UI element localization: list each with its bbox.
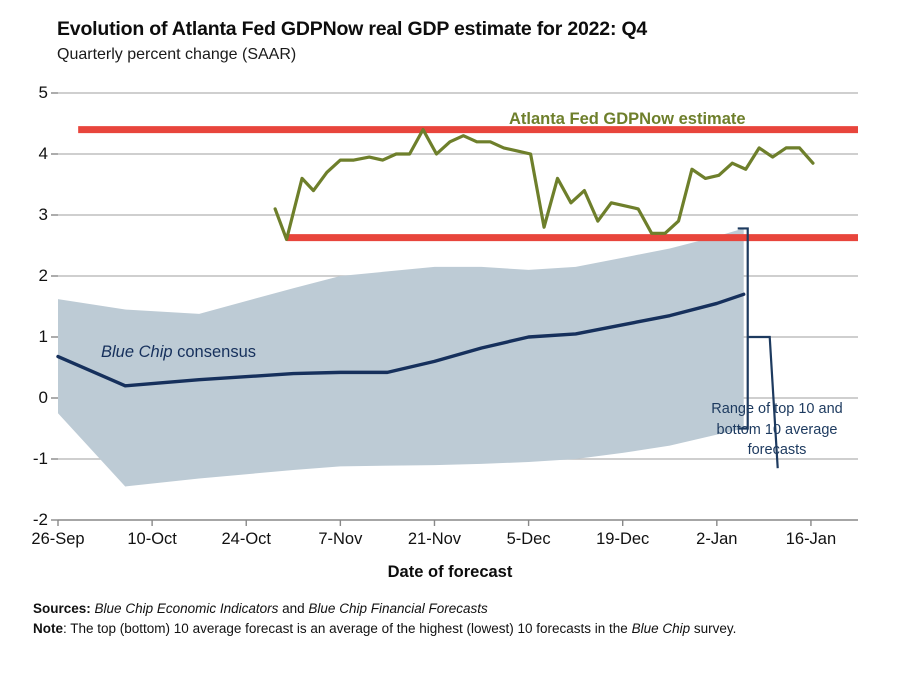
note-text-1: : The top (bottom) 10 average forecast i… <box>63 621 632 636</box>
x-tick-label: 26-Sep <box>31 530 84 549</box>
sources-footnote: Sources: Blue Chip Economic Indicators a… <box>33 601 488 616</box>
x-tick-label: 7-Nov <box>318 530 362 549</box>
note-label: Note <box>33 621 63 636</box>
gdpnow-series-label: Atlanta Fed GDPNow estimate <box>509 110 746 129</box>
sources-label: Sources: <box>33 601 91 616</box>
x-axis-title: Date of forecast <box>0 563 900 582</box>
bluechip-label-italic: Blue Chip <box>101 343 173 361</box>
note-italic: Blue Chip <box>632 621 691 636</box>
y-tick-label: -1 <box>8 449 48 469</box>
bluechip-series-label: Blue Chip consensus <box>101 343 256 362</box>
note-text-2: survey. <box>690 621 736 636</box>
y-tick-label: 0 <box>8 388 48 408</box>
chart-canvas: Evolution of Atlanta Fed GDPNow real GDP… <box>0 0 900 677</box>
range-bracket-label: Range of top 10 and bottom 10 average fo… <box>711 399 843 461</box>
x-tick-label: 16-Jan <box>786 530 836 549</box>
x-tick-label: 21-Nov <box>408 530 461 549</box>
reference-lines <box>78 130 858 238</box>
y-tick-label: -2 <box>8 510 48 530</box>
note-footnote: Note: The top (bottom) 10 average foreca… <box>33 621 736 636</box>
y-tick-label: 2 <box>8 266 48 286</box>
sources-source-2: Blue Chip Financial Forecasts <box>308 601 487 616</box>
x-tick-label: 10-Oct <box>127 530 177 549</box>
series-line <box>275 130 813 240</box>
x-tick-label: 5-Dec <box>507 530 551 549</box>
y-tick-label: 3 <box>8 205 48 225</box>
chart-title: Evolution of Atlanta Fed GDPNow real GDP… <box>57 18 647 41</box>
y-tick-label: 1 <box>8 327 48 347</box>
sources-source-1: Blue Chip Economic Indicators <box>95 601 279 616</box>
y-tick-label: 5 <box>8 83 48 103</box>
chart-subtitle: Quarterly percent change (SAAR) <box>57 46 296 64</box>
x-tick-label: 24-Oct <box>221 530 271 549</box>
sources-joiner: and <box>278 601 308 616</box>
y-tick-label: 4 <box>8 144 48 164</box>
bluechip-label-rest: consensus <box>173 343 256 361</box>
x-tick-label: 2-Jan <box>696 530 737 549</box>
x-tick-label: 19-Dec <box>596 530 649 549</box>
